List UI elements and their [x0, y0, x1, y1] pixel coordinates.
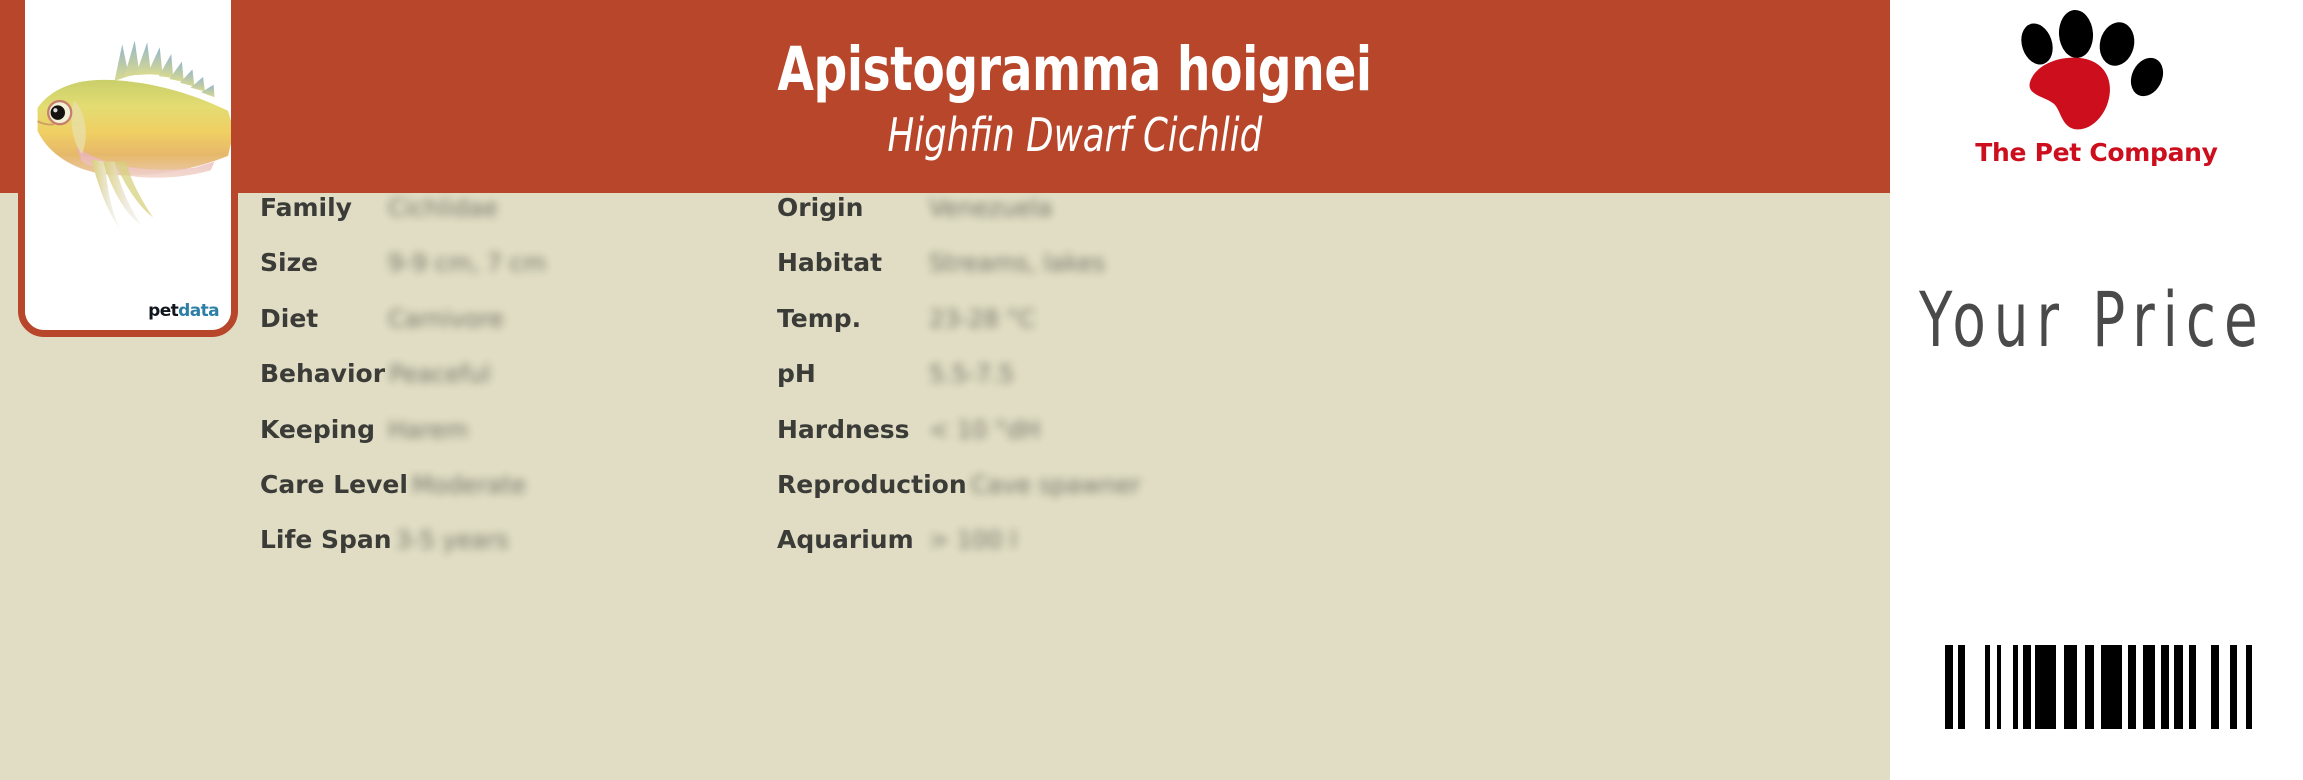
attribute-value: Venezuela: [929, 194, 1052, 222]
attribute-row: Care Level Moderate: [260, 470, 780, 525]
attribute-row: Habitat Streams, lakes: [777, 248, 1337, 303]
attribute-label: Diet: [260, 304, 384, 333]
attribute-label: Keeping: [260, 415, 384, 444]
attribute-label: Care Level: [260, 470, 408, 499]
fish-photo-icon: [25, 0, 231, 330]
price-label: Your Price: [1919, 272, 2295, 368]
petdata-watermark: petdata: [148, 302, 219, 320]
barcode-icon: [1945, 645, 2265, 729]
attribute-label: pH: [777, 359, 925, 388]
attribute-value: Peaceful: [389, 360, 490, 388]
attribute-row: Temp. 23-28 °C: [777, 304, 1337, 359]
attributes-column-left: Family Cichlidae Size 9-9 cm, 7 cm Diet …: [260, 193, 780, 581]
watermark-data: data: [178, 301, 219, 321]
attribute-label: Reproduction: [777, 470, 967, 499]
attribute-value: 5.5-7.5: [929, 360, 1014, 388]
attribute-row: Hardness < 10 °dH: [777, 415, 1337, 470]
attribute-label: Behavior: [260, 359, 385, 388]
attribute-value: 9-9 cm, 7 cm: [388, 249, 546, 277]
attribute-label: Life Span: [260, 525, 392, 554]
attribute-row: Size 9-9 cm, 7 cm: [260, 248, 780, 303]
attribute-value: Cichlidae: [388, 194, 498, 222]
attribute-row: Behavior Peaceful: [260, 359, 780, 414]
attribute-value: Harem: [388, 416, 468, 444]
card-header: Apistogramma hoignei Highfin Dwarf Cichl…: [0, 0, 1890, 193]
attribute-row: Origin Venezuela: [777, 193, 1337, 248]
attribute-row: pH 5.5-7.5: [777, 359, 1337, 414]
attribute-value: > 100 l: [929, 526, 1017, 554]
attributes-column-right: Origin Venezuela Habitat Streams, lakes …: [777, 193, 1337, 581]
attribute-label: Family: [260, 193, 384, 222]
attribute-row: Diet Carnivore: [260, 304, 780, 359]
attribute-row: Reproduction Cave spawner: [777, 470, 1337, 525]
attribute-label: Aquarium: [777, 525, 925, 554]
attribute-value: Moderate: [412, 471, 526, 499]
attribute-value: < 10 °dH: [929, 416, 1040, 444]
species-photo-card[interactable]: petdata: [18, 0, 238, 337]
attribute-row: Keeping Harem: [260, 415, 780, 470]
attribute-row: Aquarium > 100 l: [777, 525, 1337, 580]
attribute-value: Streams, lakes: [929, 249, 1105, 277]
paw-print-logo-icon: [2008, 10, 2186, 138]
attribute-label: Habitat: [777, 248, 925, 277]
attribute-label: Origin: [777, 193, 925, 222]
watermark-pet: pet: [148, 301, 178, 321]
page-subtitle: Highfin Dwarf Cichlid: [888, 107, 1263, 163]
company-logo: The Pet Company: [1890, 8, 2303, 193]
attribute-row: Family Cichlidae: [260, 193, 780, 248]
attribute-label: Size: [260, 248, 384, 277]
page-title: Apistogramma hoignei: [778, 35, 1372, 105]
attribute-value: 23-28 °C: [929, 305, 1035, 333]
attribute-value: Cave spawner: [971, 471, 1141, 499]
attribute-row: Life Span 3-5 years: [260, 525, 780, 580]
attribute-label: Hardness: [777, 415, 925, 444]
attribute-label: Temp.: [777, 304, 925, 333]
attribute-value: Carnivore: [388, 305, 504, 333]
attribute-value: 3-5 years: [396, 526, 509, 554]
company-name: The Pet Company: [1890, 138, 2303, 167]
title-block: Apistogramma hoignei Highfin Dwarf Cichl…: [260, 0, 1890, 193]
species-info-card: Apistogramma hoignei Highfin Dwarf Cichl…: [0, 0, 1890, 780]
